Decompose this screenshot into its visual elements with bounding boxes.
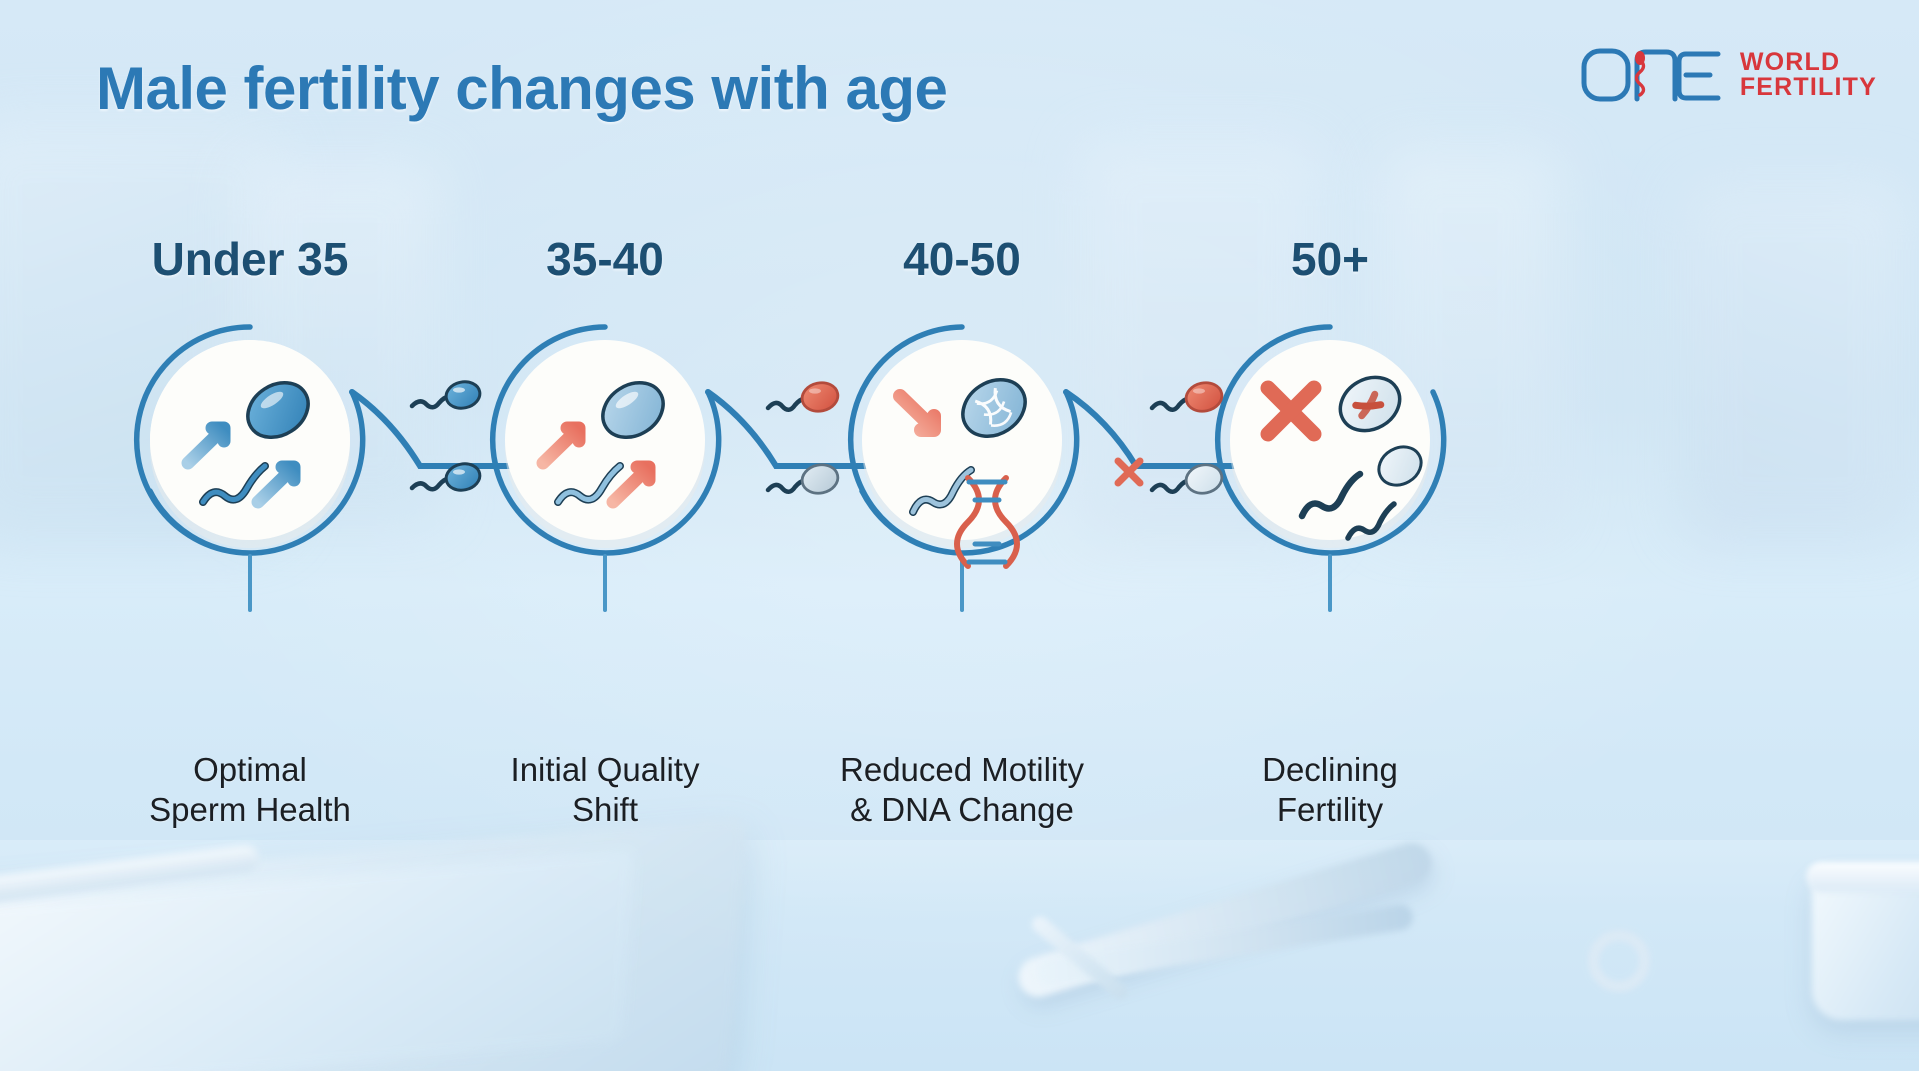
connector-1-swimmers <box>412 379 482 494</box>
connector-3-swimmers <box>1118 380 1225 497</box>
stage-caption-40-50: Reduced Motility & DNA Change <box>752 750 1172 831</box>
stage-node-35-40[interactable] <box>505 340 705 548</box>
stage-label-50-plus: 50+ <box>1150 232 1510 286</box>
stage-caption-50-plus: Declining Fertility <box>1120 750 1540 831</box>
stage-node-under-35[interactable] <box>150 340 350 548</box>
stage-label-35-40: 35-40 <box>425 232 785 286</box>
blue-sperm-icon <box>412 379 482 412</box>
red-sperm-icon <box>1152 380 1225 415</box>
stage-label-40-50: 40-50 <box>782 232 1142 286</box>
stage-3-disc <box>862 340 1062 540</box>
stage-node-50-plus[interactable] <box>1230 340 1430 548</box>
caption-stems <box>250 556 1330 610</box>
stage-label-under-35: Under 35 <box>70 232 430 286</box>
connector-2-swimmers <box>768 380 841 497</box>
stage-1-disc-top <box>150 340 350 540</box>
fertility-timeline <box>0 0 1919 1071</box>
red-sperm-icon <box>768 380 841 415</box>
small-x-icon <box>1118 461 1140 483</box>
stage-2-disc <box>505 340 705 540</box>
